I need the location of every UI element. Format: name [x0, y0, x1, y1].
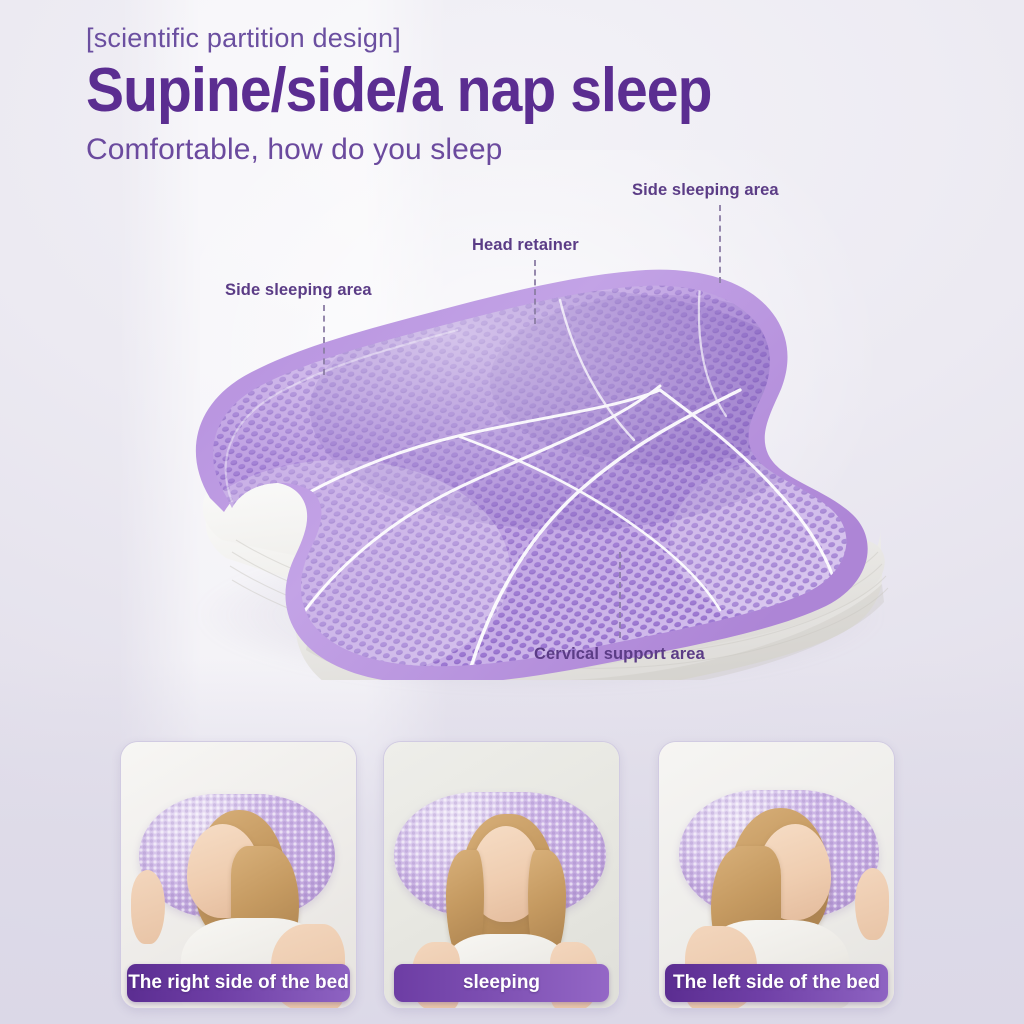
leader-line: [619, 552, 621, 638]
gallery-card-right-side[interactable]: The right side of the bed: [120, 741, 357, 1009]
photo-hand: [855, 868, 889, 940]
callout-cervical-support: Cervical support area: [534, 645, 705, 664]
sleep-position-gallery: The right side of the bed sleeping: [120, 741, 895, 1009]
header-block: [scientific partition design] Supine/sid…: [86, 24, 966, 167]
callout-head-retainer: Head retainer: [472, 236, 579, 255]
callout-label: Side sleeping area: [632, 181, 779, 200]
product-illustration: [140, 240, 900, 680]
callout-label: Head retainer: [472, 236, 579, 255]
photo-hand: [131, 870, 165, 944]
gallery-card-supine[interactable]: sleeping: [383, 741, 620, 1009]
eyebrow-text: [scientific partition design]: [86, 24, 966, 54]
leader-line: [719, 205, 721, 283]
card-caption: sleeping: [394, 964, 609, 1002]
callout-label: Side sleeping area: [225, 281, 372, 300]
page-title: Supine/side/a nap sleep: [86, 58, 896, 124]
pillow-graphic: [140, 240, 900, 680]
callout-label: Cervical support area: [534, 645, 705, 664]
infographic-canvas: [scientific partition design] Supine/sid…: [0, 0, 1024, 1024]
card-caption: The left side of the bed: [665, 964, 888, 1002]
card-caption: The right side of the bed: [127, 964, 350, 1002]
callout-side-sleeping-right: Side sleeping area: [632, 181, 779, 200]
gallery-card-left-side[interactable]: The left side of the bed: [658, 741, 895, 1009]
callout-side-sleeping-left: Side sleeping area: [225, 281, 372, 300]
leader-line: [323, 305, 325, 375]
leader-line: [534, 260, 536, 324]
page-subtitle: Comfortable, how do you sleep: [86, 133, 966, 167]
